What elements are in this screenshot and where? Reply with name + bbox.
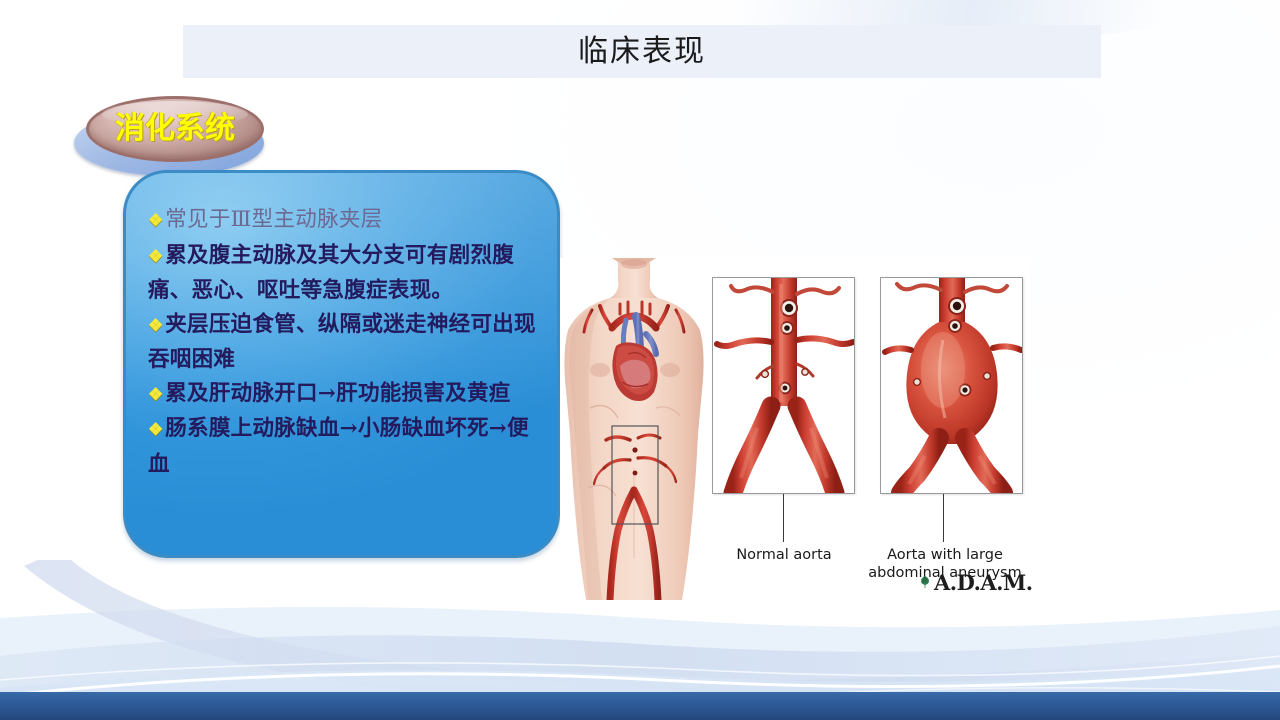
bullet-item-3-text: 夹层压迫食管、纵隔或迷走神经可出现吞咽困难 (148, 312, 536, 373)
caption-normal-aorta: Normal aorta (708, 546, 860, 564)
bottom-accent-bar (0, 692, 1280, 720)
anatomy-figure: Normal aorta Aorta with large abdominal … (560, 258, 1030, 600)
normal-aorta-svg (713, 278, 854, 493)
diamond-bullet-icon: ❖ (148, 211, 163, 231)
bullet-item-1-text: 常见于Ⅲ型主动脉夹层 (165, 207, 382, 232)
bullet-item-2: ❖累及腹主动脉及其大分支可有剧烈腹痛、恶心、呕吐等急腹症表现。 (148, 239, 544, 308)
diamond-bullet-icon: ❖ (148, 247, 163, 267)
leader-line-aneurysm (943, 494, 944, 542)
inset-normal-aorta (712, 277, 855, 494)
diamond-bullet-icon: ❖ (148, 316, 163, 336)
inset-aneurysm-aorta (880, 277, 1023, 494)
title-banner: 临床表现 (183, 25, 1101, 78)
content-panel: ❖常见于Ⅲ型主动脉夹层 ❖累及腹主动脉及其大分支可有剧烈腹痛、恶心、呕吐等急腹症… (123, 170, 560, 558)
diamond-bullet-icon: ❖ (148, 385, 163, 405)
bullet-item-5-text: 肠系膜上动脉缺血→小肠缺血坏死→便血 (148, 416, 529, 477)
tree-leaf-icon (918, 575, 932, 589)
bullet-item-3: ❖夹层压迫食管、纵隔或迷走神经可出现吞咽困难 (148, 308, 544, 377)
bullet-item-4: ❖累及肝动脉开口→肝功能损害及黄疸 (148, 377, 544, 413)
adam-watermark: A.D.A.M. (918, 570, 1024, 596)
bullet-list: ❖常见于Ⅲ型主动脉夹层 ❖累及腹主动脉及其大分支可有剧烈腹痛、恶心、呕吐等急腹症… (148, 203, 544, 481)
leader-line-normal (783, 494, 784, 542)
section-badge: 消化系统 (68, 96, 264, 178)
adam-wordmark: A.D.A.M. (934, 570, 1033, 595)
bullet-item-2-text: 累及腹主动脉及其大分支可有剧烈腹痛、恶心、呕吐等急腹症表现。 (148, 243, 514, 304)
bullet-item-4-text: 累及肝动脉开口→肝功能损害及黄疸 (165, 381, 510, 406)
badge-label: 消化系统 (86, 96, 264, 162)
torso-illustration (560, 258, 710, 600)
aneurysm-aorta-svg (881, 278, 1022, 493)
bullet-item-5: ❖肠系膜上动脉缺血→小肠缺血坏死→便血 (148, 412, 544, 481)
torso-svg (560, 258, 710, 600)
bullet-item-1: ❖常见于Ⅲ型主动脉夹层 (148, 203, 544, 239)
diamond-bullet-icon: ❖ (148, 420, 163, 440)
slide-canvas: 临床表现 消化系统 ❖常见于Ⅲ型主动脉夹层 ❖累及腹主动脉及其大分支可有剧烈腹痛… (0, 0, 1280, 720)
page-title: 临床表现 (183, 25, 1101, 78)
